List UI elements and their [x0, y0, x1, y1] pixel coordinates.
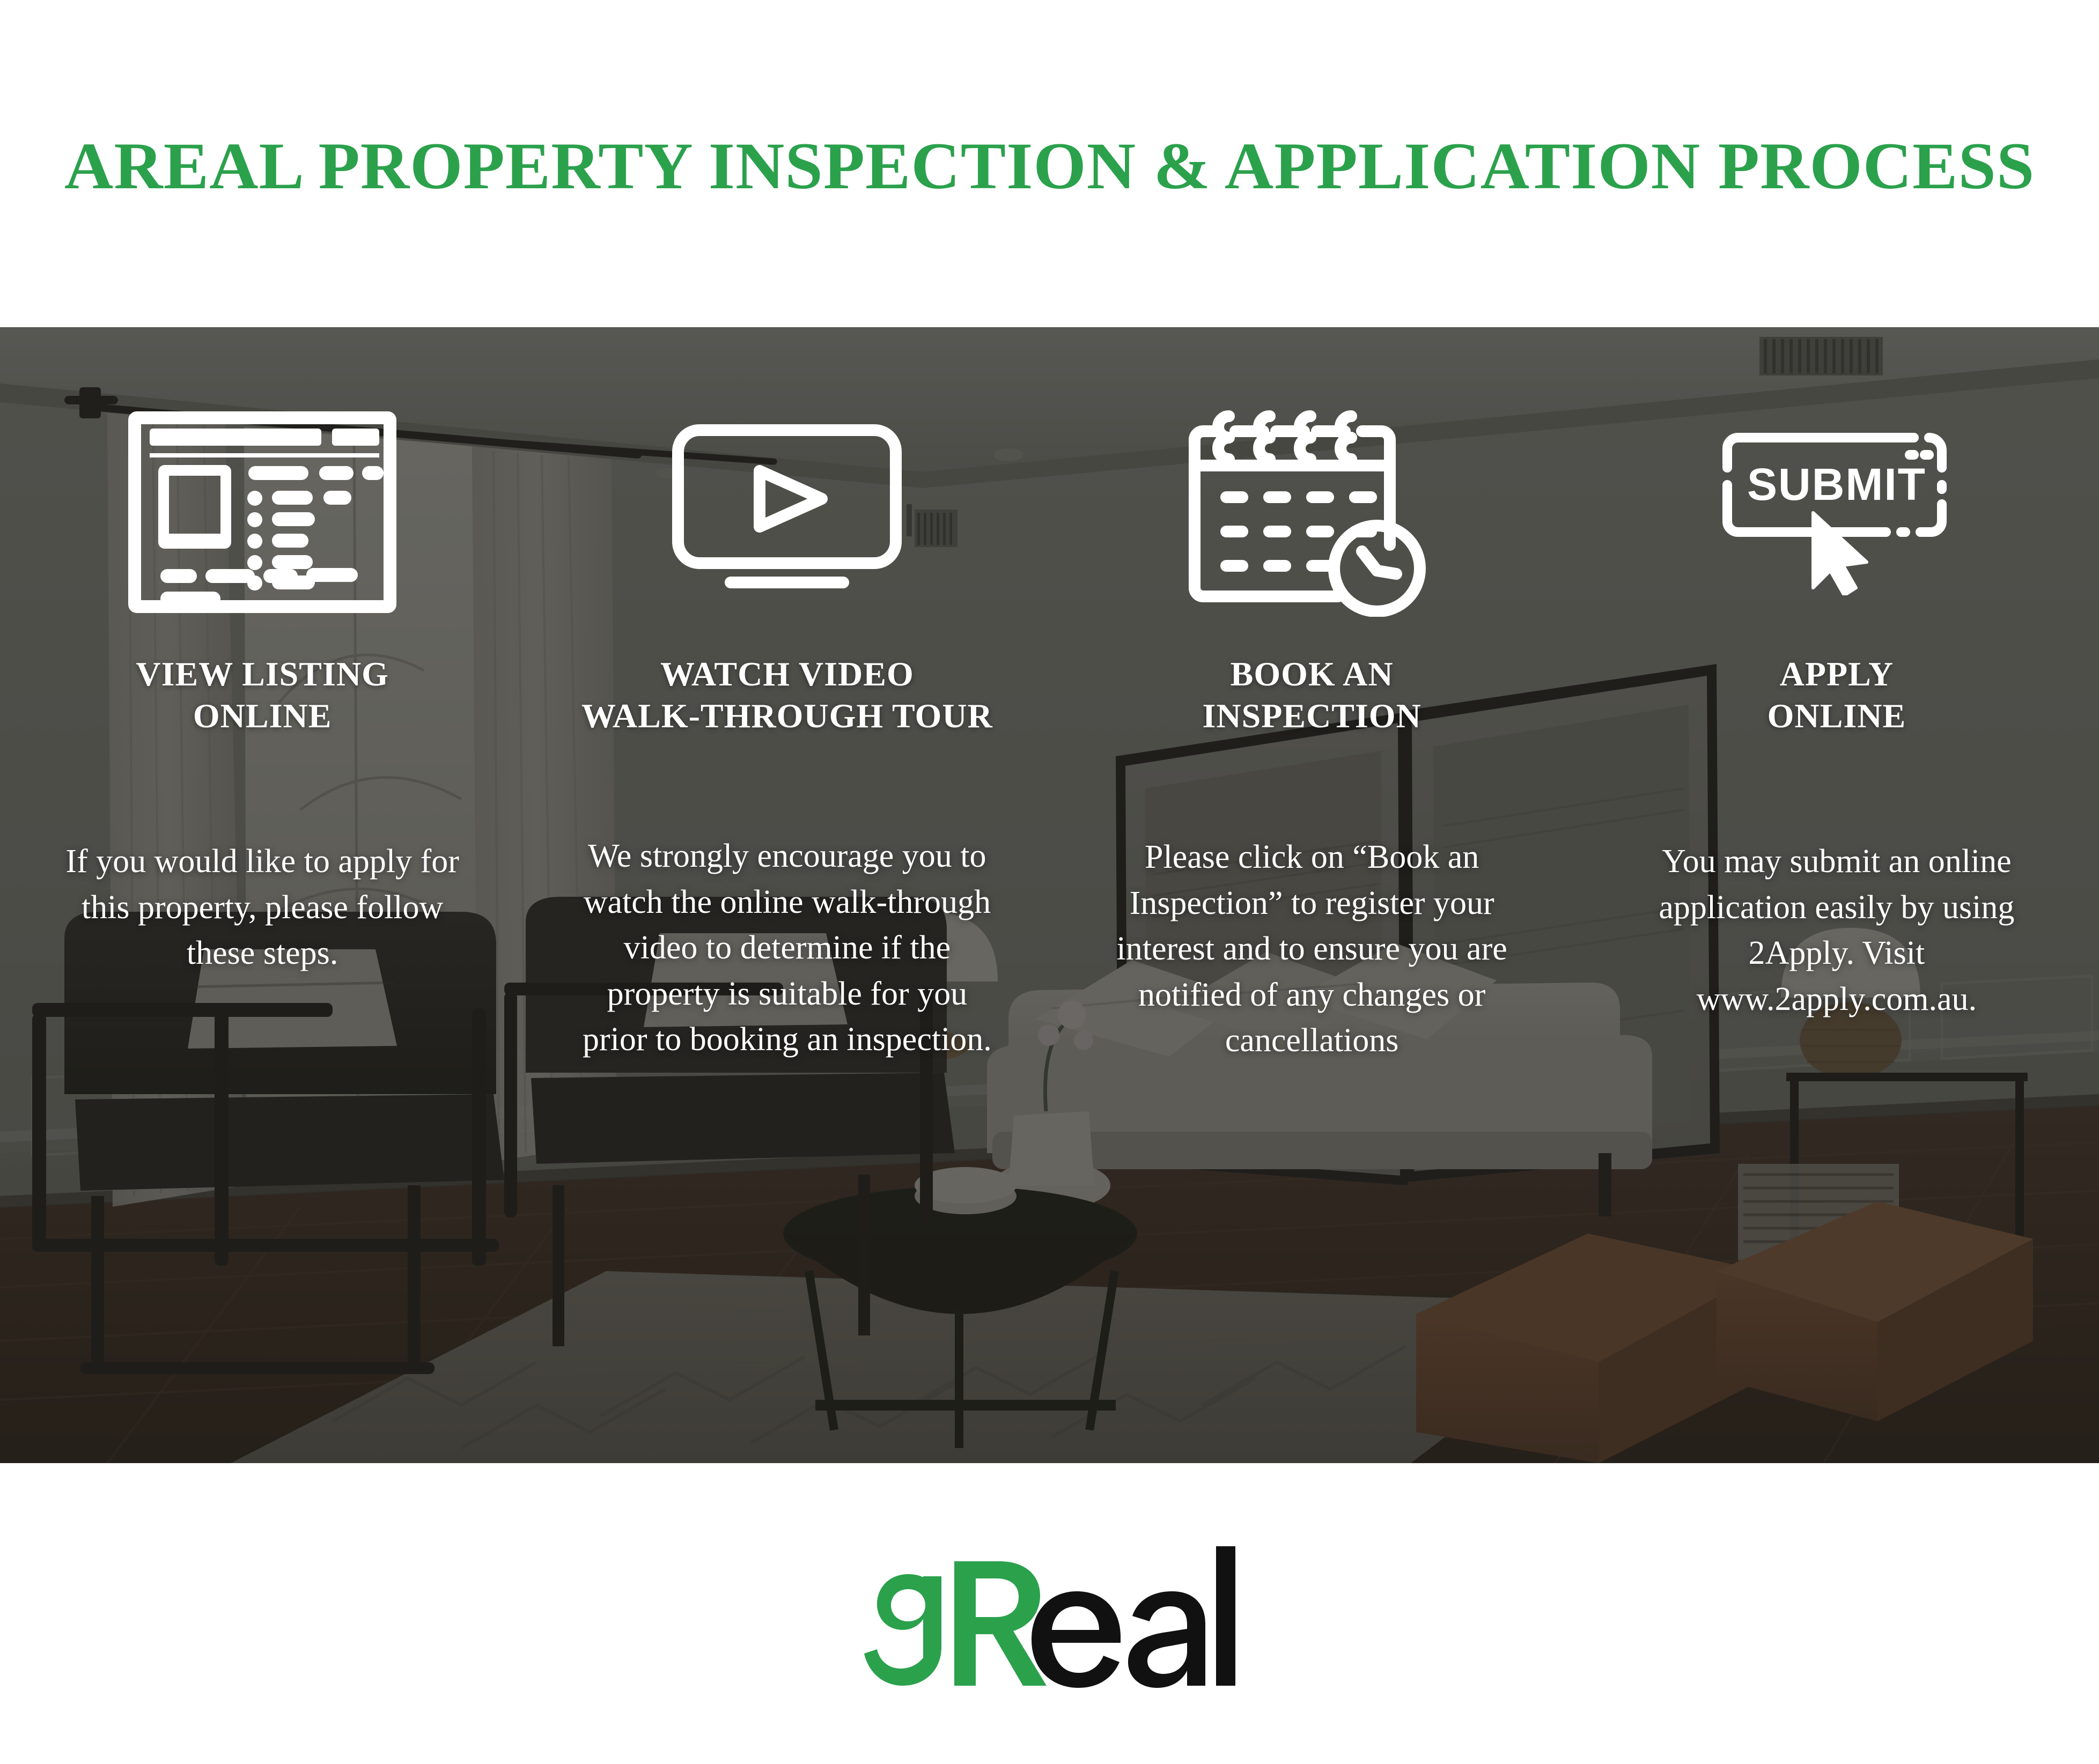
step-heading-line2: INSPECTION [1202, 695, 1421, 737]
page-footer [0, 1463, 2099, 1764]
step-heading-line2: ONLINE [1767, 695, 1906, 737]
step-body-text: If you would like to apply for this prop… [58, 839, 467, 977]
web-listing-icon [128, 386, 396, 638]
submit-label: SUBMIT [1747, 459, 1926, 510]
step-book-an-inspection: BOOK AN INSPECTION Please click on “Book… [1050, 327, 1574, 1463]
steps-row: VIEW LISTING ONLINE If you would like to… [0, 327, 2099, 1463]
page-header: AREAL PROPERTY INSPECTION & APPLICATION … [0, 0, 2099, 327]
step-view-listing-online: VIEW LISTING ONLINE If you would like to… [0, 327, 525, 1463]
step-heading-line1: BOOK AN [1202, 653, 1421, 695]
submit-button-icon: SUBMIT [1719, 386, 1955, 638]
step-heading: APPLY ONLINE [1767, 653, 1906, 737]
step-heading-line1: VIEW LISTING [136, 653, 388, 695]
calendar-clock-icon [1186, 386, 1438, 638]
step-body-text: Please click on “Book an Inspection” to … [1107, 835, 1516, 1064]
step-apply-online: SUBMIT APPLY ONLINE You may submit an on… [1574, 327, 2099, 1463]
areal-logo-mark [862, 1544, 1238, 1705]
step-heading: BOOK AN INSPECTION [1202, 653, 1421, 737]
step-watch-video-walkthrough: WATCH VIDEO WALK-THROUGH TOUR We strongl… [525, 327, 1049, 1463]
page-title: AREAL PROPERTY INSPECTION & APPLICATION … [64, 128, 2035, 200]
areal-logo [862, 1544, 1238, 1705]
step-heading-line1: WATCH VIDEO [581, 653, 993, 695]
step-heading: VIEW LISTING ONLINE [136, 653, 388, 737]
step-heading-line2: WALK-THROUGH TOUR [581, 695, 993, 737]
step-heading-line2: ONLINE [136, 695, 388, 737]
video-player-icon [672, 386, 902, 638]
step-body-text: You may submit an online application eas… [1632, 839, 2041, 1022]
step-body-text: We strongly encourage you to watch the o… [583, 833, 992, 1063]
step-heading: WATCH VIDEO WALK-THROUGH TOUR [581, 653, 993, 737]
step-heading-line1: APPLY [1767, 653, 1906, 695]
